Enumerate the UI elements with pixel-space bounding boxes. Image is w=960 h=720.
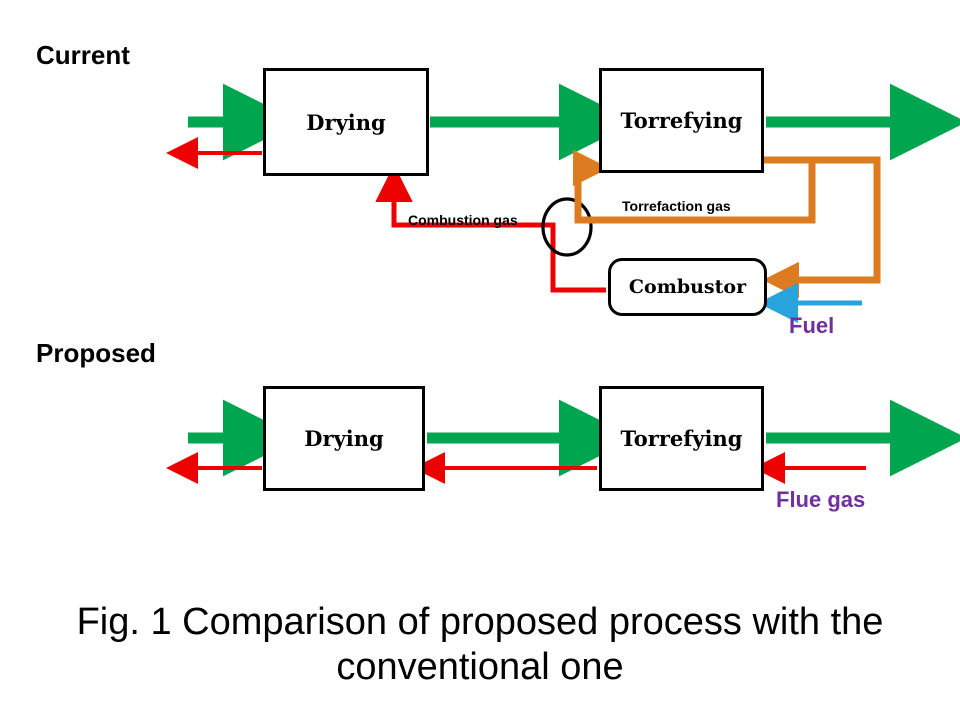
unit-box-drying-proposed[interactable]: Drying [263, 386, 425, 491]
figure-caption: Fig. 1 Comparison of proposed process wi… [0, 600, 960, 690]
stream-label-torrefaction-gas: Torrefaction gas [622, 198, 731, 214]
unit-box-combustor[interactable]: Combustor [608, 258, 767, 316]
path-combustion-gas [394, 182, 606, 290]
section-label-current: Current [36, 40, 130, 71]
stream-label-fuel: Fuel [789, 313, 834, 339]
stream-label-combustion-gas: Combustion gas [408, 212, 518, 228]
unit-box-torrefying-current[interactable]: Torrefying [599, 68, 764, 173]
unit-box-torrefying-proposed[interactable]: Torrefying [599, 386, 764, 491]
unit-box-drying-current[interactable]: Drying [263, 68, 429, 176]
stream-label-flue-gas: Flue gas [776, 487, 865, 513]
figure-canvas: Current Proposed Drying Torrefying Combu… [0, 0, 960, 720]
section-label-proposed: Proposed [36, 338, 156, 369]
